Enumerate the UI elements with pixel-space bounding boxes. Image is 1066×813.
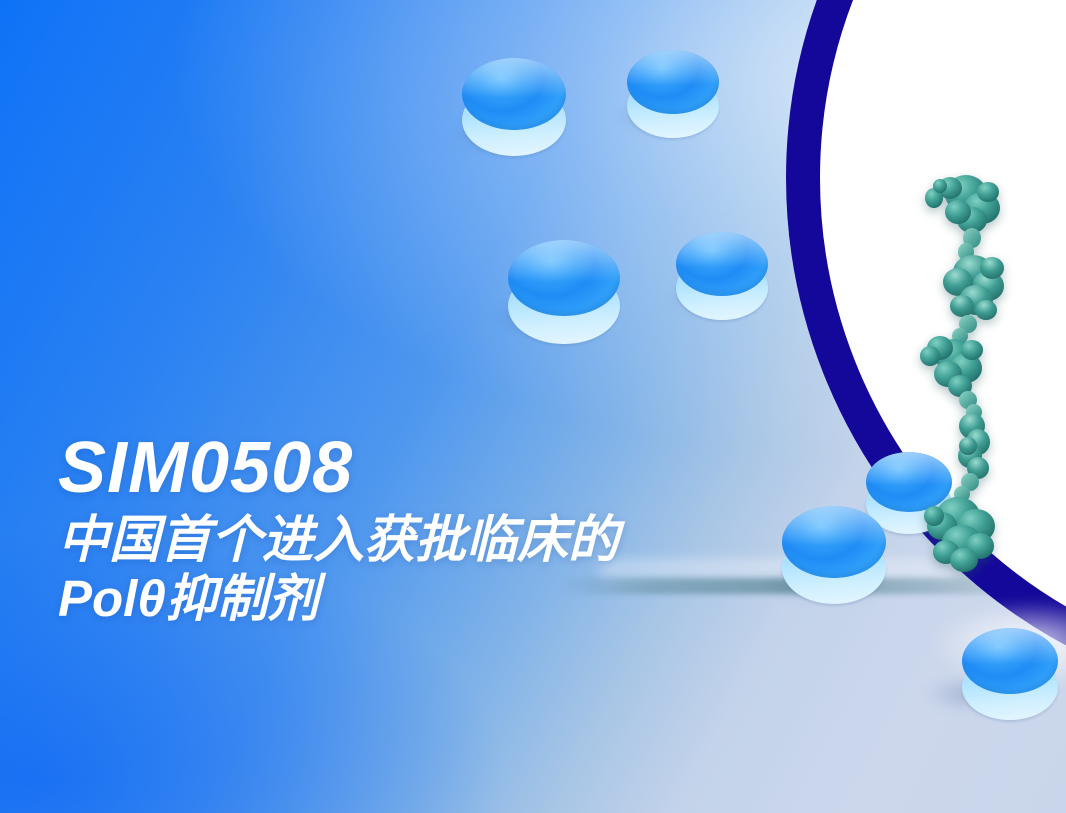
subtitle-line-1: 中国首个进入获批临床的 <box>58 511 619 569</box>
subtitle-line-2: Polθ抑制剂 <box>58 570 619 628</box>
tablet-6 <box>782 506 886 604</box>
poster-canvas: SIM0508 中国首个进入获批临床的 Polθ抑制剂 <box>0 0 1066 813</box>
headline-block: SIM0508 中国首个进入获批临床的 Polθ抑制剂 <box>58 432 619 628</box>
tablet-rim-highlight <box>782 506 886 578</box>
brand-name: SIM0508 <box>58 432 619 505</box>
tablet-7 <box>962 628 1058 720</box>
tablet-rim-highlight <box>962 628 1058 694</box>
polymerase-theta-protein-structure <box>900 160 1030 580</box>
